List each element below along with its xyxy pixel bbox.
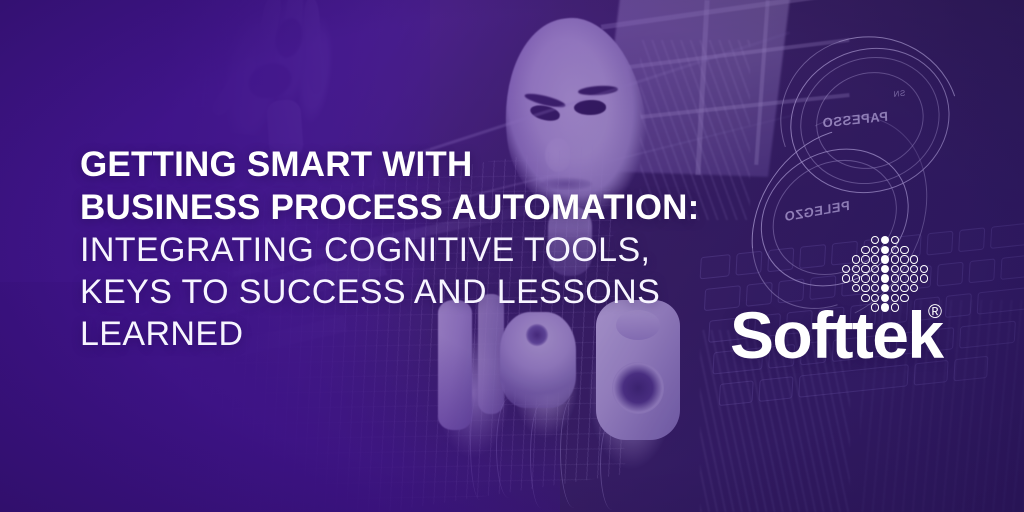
logo-dot-open: [891, 274, 899, 282]
headline-line-2: BUSINESS PROCESS AUTOMATION:: [80, 186, 720, 229]
subhead-line-3: LEARNED: [80, 313, 720, 355]
logo-dot-filled: [881, 265, 889, 273]
logo-dot-open: [871, 246, 879, 254]
logo-dot-open: [891, 265, 899, 273]
logo-dot-open: [900, 284, 908, 292]
logo-dot-open: [852, 255, 860, 263]
subhead-line-2: KEYS TO SUCCESS AND LESSONS: [80, 271, 720, 313]
logo-dot-open: [871, 255, 879, 263]
registered-trademark-icon: ®: [928, 302, 942, 324]
headline-line-1: GETTING SMART WITH: [80, 143, 720, 186]
logo-dot-open: [891, 236, 899, 244]
logo-dot-open: [871, 284, 879, 292]
logo-dot-open: [871, 236, 879, 244]
logo-dot-open: [891, 284, 899, 292]
logo-dot-open: [861, 274, 869, 282]
headline-block: GETTING SMART WITH BUSINESS PROCESS AUTO…: [80, 143, 720, 355]
logo-dot-open: [852, 284, 860, 292]
logo-dot-open: [861, 246, 869, 254]
logo-dot-open: [910, 284, 918, 292]
softtek-logo[interactable]: Softtek ®: [730, 236, 970, 376]
logo-dot-open: [900, 274, 908, 282]
logo-dot-open: [852, 274, 860, 282]
logo-dot-open: [871, 274, 879, 282]
softtek-wordmark: Softtek: [730, 302, 943, 368]
logo-dot-filled: [881, 274, 889, 282]
logo-dot-open: [900, 255, 908, 263]
logo-dot-filled: [881, 255, 889, 263]
logo-dot-filled: [881, 284, 889, 292]
logo-dot-open: [920, 265, 928, 273]
logo-dot-open: [861, 255, 869, 263]
logo-dot-open: [891, 246, 899, 254]
logo-dot-open: [910, 274, 918, 282]
logo-dot-open: [900, 246, 908, 254]
logo-dot-open: [842, 274, 850, 282]
logo-dot-open: [852, 265, 860, 273]
logo-dot-open: [920, 274, 928, 282]
logo-dot-filled: [881, 236, 889, 244]
logo-dot-open: [910, 265, 918, 273]
logo-dot-open: [900, 265, 908, 273]
logo-dot-open: [861, 284, 869, 292]
softtek-promo-banner: PAPESSO SN PELEGZO GETTING SMART WITH BU…: [0, 0, 1024, 512]
logo-dot-open: [871, 265, 879, 273]
subhead-line-1: INTEGRATING COGNITIVE TOOLS,: [80, 229, 720, 271]
logo-dot-filled: [881, 246, 889, 254]
logo-dot-open: [842, 265, 850, 273]
logo-dot-open: [891, 255, 899, 263]
logo-dot-open: [910, 255, 918, 263]
logo-dot-open: [861, 265, 869, 273]
